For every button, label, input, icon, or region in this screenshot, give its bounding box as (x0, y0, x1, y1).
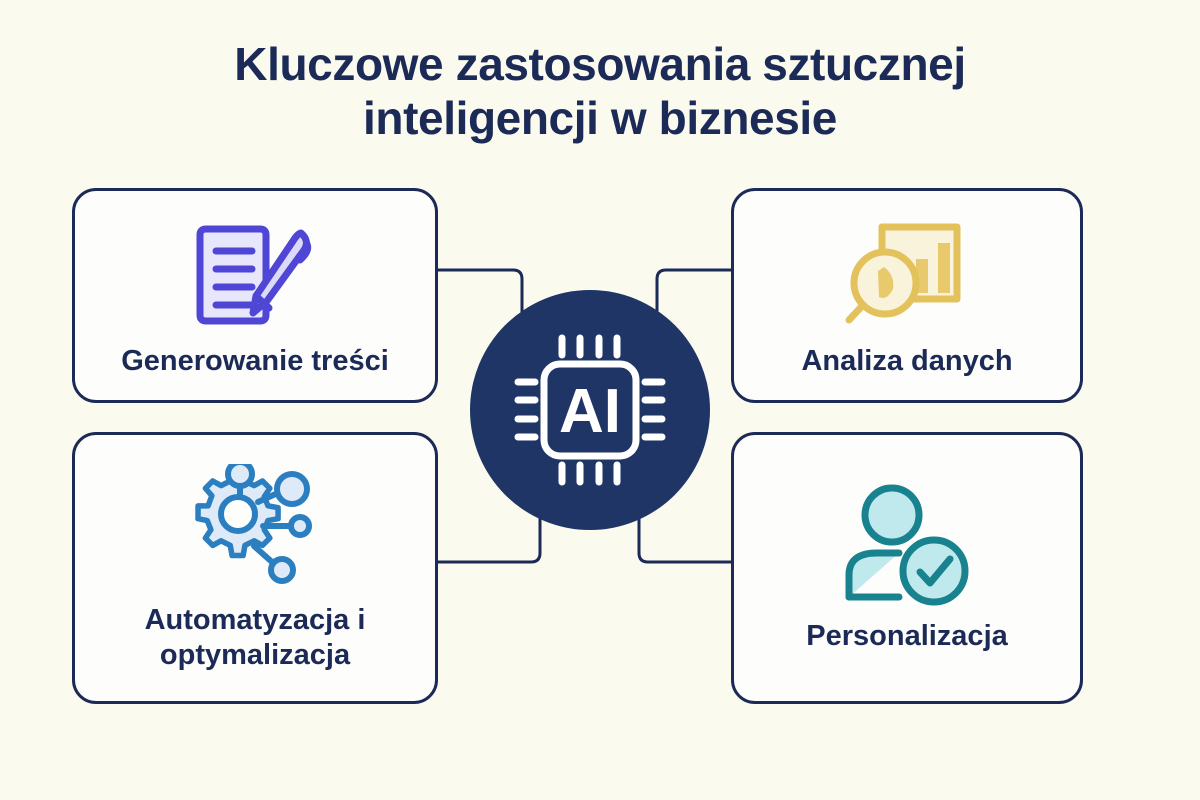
card-label-content-generation: Generowanie treści (109, 344, 401, 378)
card-data-analysis[interactable]: Analiza danych (731, 188, 1083, 403)
card-personalization[interactable]: Personalizacja (731, 432, 1083, 704)
document-with-pen-icon (180, 213, 330, 338)
card-label-line-1: Automatyzacja i (145, 604, 366, 636)
card-automation-optimization[interactable]: Automatyzacja i optymalizacja (72, 432, 438, 704)
card-label-line-2: optymalizacja (160, 639, 350, 671)
card-label-data-analysis: Analiza danych (789, 344, 1024, 378)
card-label-personalization: Personalizacja (794, 619, 1020, 653)
magnifier-bar-chart-icon (837, 213, 977, 338)
central-ai-node[interactable]: AI (470, 290, 710, 530)
user-check-icon (837, 483, 977, 613)
ai-center-label: AI (559, 377, 621, 446)
card-label-automation-optimization: Automatyzacja i optymalizacja (133, 603, 378, 671)
gear-network-icon (180, 464, 330, 597)
card-content-generation[interactable]: Generowanie treści (72, 188, 438, 403)
infographic-canvas: Kluczowe zastosowania sztucznej intelige… (0, 0, 1200, 800)
ai-chip-icon: AI (506, 326, 674, 494)
